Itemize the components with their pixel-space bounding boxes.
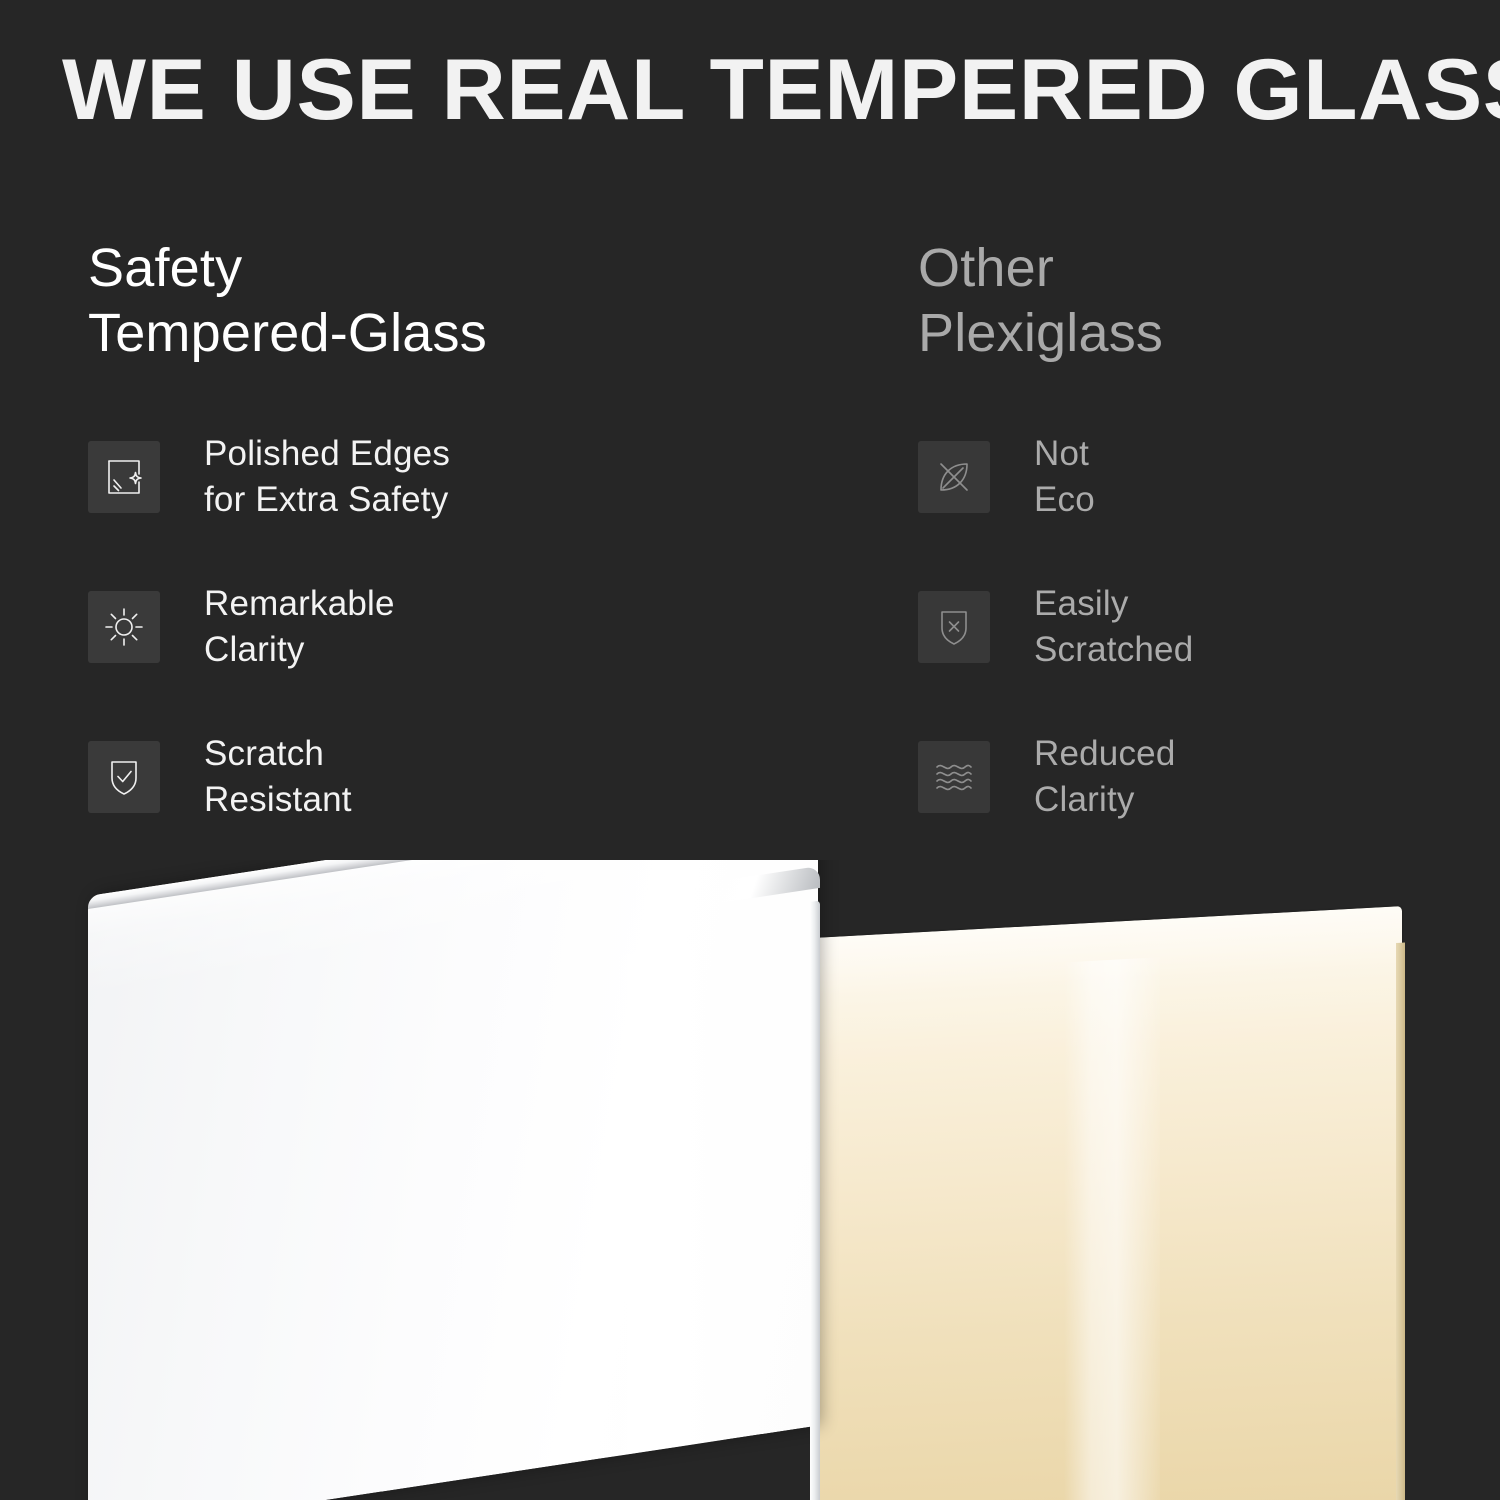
tempered-glass-panel-edge	[810, 900, 820, 1500]
plexiglass-panel-edge	[1396, 943, 1405, 1500]
feature-row-remarkable-clarity: Remarkable Clarity	[88, 578, 848, 676]
tempered-glass-panel	[88, 860, 818, 1500]
feature-row-scratch-resistant: Scratch Resistant	[88, 728, 848, 826]
feature-line1: Reduced	[1034, 731, 1176, 777]
feature-label-reduced-clarity: Reduced Clarity	[1034, 731, 1176, 823]
column-heading-line1: Other	[918, 236, 1478, 301]
column-heading-line1: Safety	[88, 236, 848, 301]
feature-line2: for Extra Safety	[204, 477, 450, 523]
feature-list-safety: Polished Edges for Extra Safety	[88, 428, 848, 826]
comparison-columns: Safety Tempered-Glass Polished Edges for	[0, 236, 1500, 886]
column-heading-line2: Tempered-Glass	[88, 301, 848, 366]
plexiglass-panel	[812, 906, 1402, 1500]
feature-line2: Clarity	[204, 627, 395, 673]
feature-row-reduced-clarity: Reduced Clarity	[918, 728, 1478, 826]
column-heading-line2: Plexiglass	[918, 301, 1478, 366]
feature-line2: Clarity	[1034, 777, 1176, 823]
product-photo-stage	[0, 860, 1500, 1500]
feature-line2: Eco	[1034, 477, 1095, 523]
feature-row-polished-edges: Polished Edges for Extra Safety	[88, 428, 848, 526]
feature-line1: Not	[1034, 431, 1095, 477]
feature-line2: Scratched	[1034, 627, 1193, 673]
sun-clarity-icon	[88, 591, 160, 663]
feature-list-plexiglass: Not Eco Easily Scratched	[918, 428, 1478, 826]
column-other-plexiglass: Other Plexiglass Not Eco	[918, 236, 1478, 826]
feature-line1: Scratch	[204, 731, 352, 777]
column-heading-other: Other Plexiglass	[918, 236, 1478, 366]
feature-line1: Remarkable	[204, 581, 395, 627]
leaf-crossed-out-icon	[918, 441, 990, 513]
polished-edge-sparkle-icon	[88, 441, 160, 513]
shield-check-icon	[88, 741, 160, 813]
feature-label-scratch-resistant: Scratch Resistant	[204, 731, 352, 823]
feature-line1: Easily	[1034, 581, 1193, 627]
feature-line1: Polished Edges	[204, 431, 450, 477]
feature-label-remarkable-clarity: Remarkable Clarity	[204, 581, 395, 673]
column-heading-safety: Safety Tempered-Glass	[88, 236, 848, 366]
feature-label-not-eco: Not Eco	[1034, 431, 1095, 523]
feature-row-not-eco: Not Eco	[918, 428, 1478, 526]
column-safety-tempered-glass: Safety Tempered-Glass Polished Edges for	[88, 236, 848, 826]
feature-label-easily-scratched: Easily Scratched	[1034, 581, 1193, 673]
feature-line2: Resistant	[204, 777, 352, 823]
shield-x-icon	[918, 591, 990, 663]
wavy-lines-icon	[918, 741, 990, 813]
feature-label-polished-edges: Polished Edges for Extra Safety	[204, 431, 450, 523]
feature-row-easily-scratched: Easily Scratched	[918, 578, 1478, 676]
page-title: WE USE REAL TEMPERED GLASS	[62, 42, 1500, 138]
